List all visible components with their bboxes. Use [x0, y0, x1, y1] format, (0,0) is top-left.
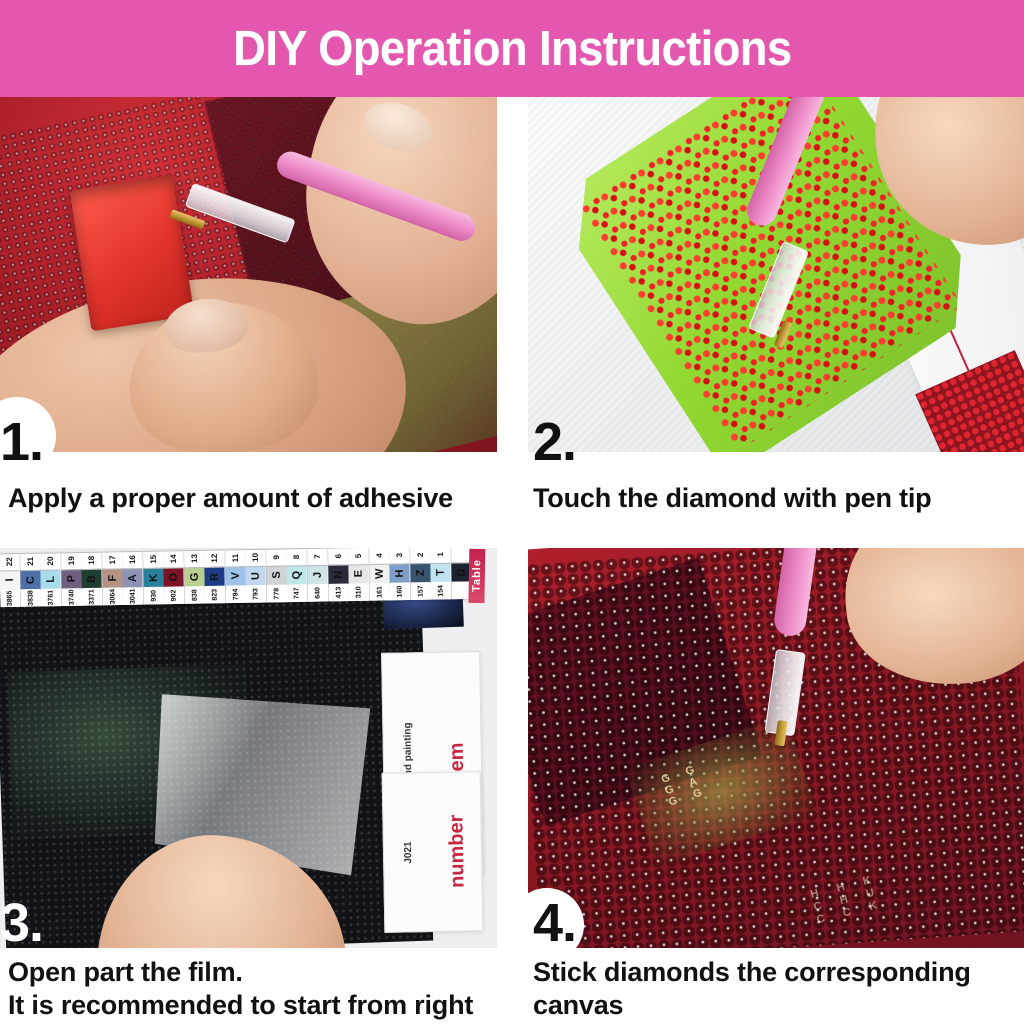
diy-instructions-poster: DIY Operation Instructions 1. Apply — [0, 0, 1024, 1024]
legend-column: 7J640 — [307, 548, 328, 602]
legend-dmc-number: 902 — [164, 587, 184, 605]
legend-symbol: C — [20, 570, 40, 590]
legend-index: 16 — [123, 551, 143, 569]
legend-dmc-number: 157 — [411, 582, 431, 600]
legend-index: 19 — [61, 552, 81, 570]
legend-column: 1T154 — [431, 548, 452, 600]
legend-column: 12R823 — [205, 549, 226, 603]
legend-table-label: Table — [468, 549, 485, 603]
legend-symbol: T — [431, 563, 451, 583]
legend-index: 11 — [225, 549, 245, 567]
step-4-photo: G G G A G G H H K C H U C C K — [528, 548, 1024, 948]
legend-dmc-number: 838 — [185, 586, 205, 604]
red-adhesive-wax-square — [69, 175, 194, 332]
legend-index: 20 — [41, 552, 61, 570]
step-panel-2: 2. Touch the diamond with pen tip — [528, 97, 1024, 524]
legend-column: 13G838 — [184, 550, 205, 604]
step-4-caption: Stick diamonds the corresponding canvas — [533, 956, 1024, 1022]
legend-dmc-number: 161 — [370, 583, 390, 601]
legend-column: 8Q747 — [287, 548, 308, 602]
legend-index: 22 — [0, 553, 19, 571]
legend-dmc-number: 3371 — [82, 588, 102, 606]
legend-dmc-number: 3740 — [62, 588, 82, 606]
step-4-number: 4. — [533, 896, 576, 950]
legend-dmc-number: 3064 — [103, 588, 123, 606]
legend-dmc-number: 154 — [431, 582, 451, 600]
legend-dmc-number: 823 — [205, 586, 225, 604]
legend-index: 21 — [20, 552, 40, 570]
step-1-number: 1. — [0, 415, 43, 469]
legend-symbol: N — [328, 564, 348, 584]
number-label: number — [445, 815, 469, 889]
legend-symbol: L — [41, 569, 61, 589]
legend-index: 18 — [82, 551, 102, 569]
step-1-photo — [0, 97, 497, 452]
legend-index: 13 — [184, 550, 204, 568]
legend-index: 7 — [307, 548, 327, 565]
legend-symbol: R — [205, 566, 225, 586]
legend-column: 5E310 — [349, 548, 370, 601]
legend-dmc-number: 930 — [144, 587, 164, 605]
legend-dmc-number: 794 — [226, 586, 246, 604]
legend-dmc-number: 778 — [267, 585, 287, 603]
step-3-caption: Open part the film. It is recommended to… — [8, 956, 497, 1024]
legend-index: 2 — [410, 548, 430, 563]
legend-symbol: A — [123, 568, 143, 588]
legend-index: 3 — [390, 548, 410, 564]
page-title: DIY Operation Instructions — [233, 21, 791, 77]
step-2-caption: Touch the diamond with pen tip — [533, 482, 1024, 515]
legend-index: 9 — [266, 548, 286, 566]
legend-symbol: V — [226, 566, 246, 586]
step-panel-1: 1. Apply a proper amount of adhesive — [0, 97, 497, 524]
legend-symbol: G — [185, 567, 205, 587]
step-3-number: 3. — [0, 896, 43, 950]
legend-symbol: H — [390, 563, 410, 583]
legend-column: 15K930 — [143, 550, 164, 604]
legend-column: 11V794 — [225, 549, 246, 603]
legend-column: 14O902 — [164, 550, 185, 604]
legend-index: 14 — [164, 550, 184, 568]
legend-index: 5 — [349, 548, 369, 564]
legend-symbol: K — [144, 568, 164, 588]
legend-dmc-number: 3761 — [41, 589, 61, 607]
legend-symbol: W — [369, 564, 389, 584]
step-3-photo: 22I386521C383820L376119P374018B337117F30… — [0, 548, 497, 948]
legend-dmc-number: 3865 — [0, 589, 20, 607]
legend-symbol: J — [308, 565, 328, 585]
legend-column: 3H160 — [390, 548, 411, 600]
legend-index: 12 — [205, 549, 225, 567]
legend-index: 15 — [143, 550, 163, 568]
step-1-caption: Apply a proper amount of adhesive — [8, 482, 497, 515]
legend-dmc-number: 640 — [308, 584, 328, 602]
legend-column: 10U793 — [246, 548, 267, 602]
legend-column: 22I3865 — [0, 553, 21, 607]
number-value: J021 — [402, 841, 413, 863]
legend-dmc-number: 793 — [247, 585, 267, 603]
legend-index: 10 — [246, 548, 266, 566]
legend-index: 8 — [287, 548, 307, 565]
legend-symbol: I — [0, 570, 20, 590]
legend-column: 6N413 — [328, 548, 349, 601]
legend-symbol: Z — [410, 563, 430, 583]
legend-column: 19P3740 — [61, 552, 82, 606]
legend-column: 4W161 — [369, 548, 390, 601]
legend-index — [451, 548, 471, 563]
legend-dmc-number: 3041 — [123, 587, 143, 605]
legend-symbol: S — [267, 565, 287, 585]
legend-dmc-number: 3838 — [21, 589, 41, 607]
legend-column: 2Z157 — [410, 548, 431, 600]
canvas-number-label: J021 number — [381, 771, 483, 933]
legend-column: 20L3761 — [41, 552, 62, 606]
legend-dmc-number: 747 — [288, 584, 308, 602]
legend-index: 4 — [369, 548, 389, 564]
number-value-column: J021 — [382, 773, 433, 932]
legend-symbol: Q — [287, 565, 307, 585]
legend-symbol: F — [103, 568, 123, 588]
legend-symbol: E — [349, 564, 369, 584]
step-panel-3: 22I386521C383820L376119P374018B337117F30… — [0, 548, 497, 1024]
legend-column: 9S778 — [266, 548, 287, 602]
legend-dmc-number: 310 — [349, 583, 369, 601]
legend-index: 1 — [431, 548, 451, 563]
legend-symbol: P — [61, 569, 81, 589]
number-title-column: number — [431, 772, 482, 931]
page-header: DIY Operation Instructions — [0, 0, 1024, 97]
step-2-number: 2. — [533, 415, 576, 469]
colour-legend-table: 22I386521C383820L376119P374018B337117F30… — [0, 548, 473, 607]
legend-index: 17 — [102, 551, 122, 569]
legend-symbol: U — [246, 566, 266, 586]
legend-symbol: O — [164, 567, 184, 587]
legend-index: 6 — [328, 548, 348, 565]
legend-dmc-number: 160 — [390, 583, 410, 601]
legend-column: 16A3041 — [123, 551, 144, 605]
step-2-photo — [528, 97, 1024, 452]
legend-column: 18B3371 — [82, 551, 103, 605]
step-panel-4: G G G A G G H H K C H U C C K 4. Stick d… — [528, 548, 1024, 1024]
legend-symbol: B — [82, 569, 102, 589]
legend-column: 21C3838 — [20, 552, 41, 606]
legend-dmc-number: 413 — [329, 584, 349, 602]
legend-column: 17F3064 — [102, 551, 123, 605]
